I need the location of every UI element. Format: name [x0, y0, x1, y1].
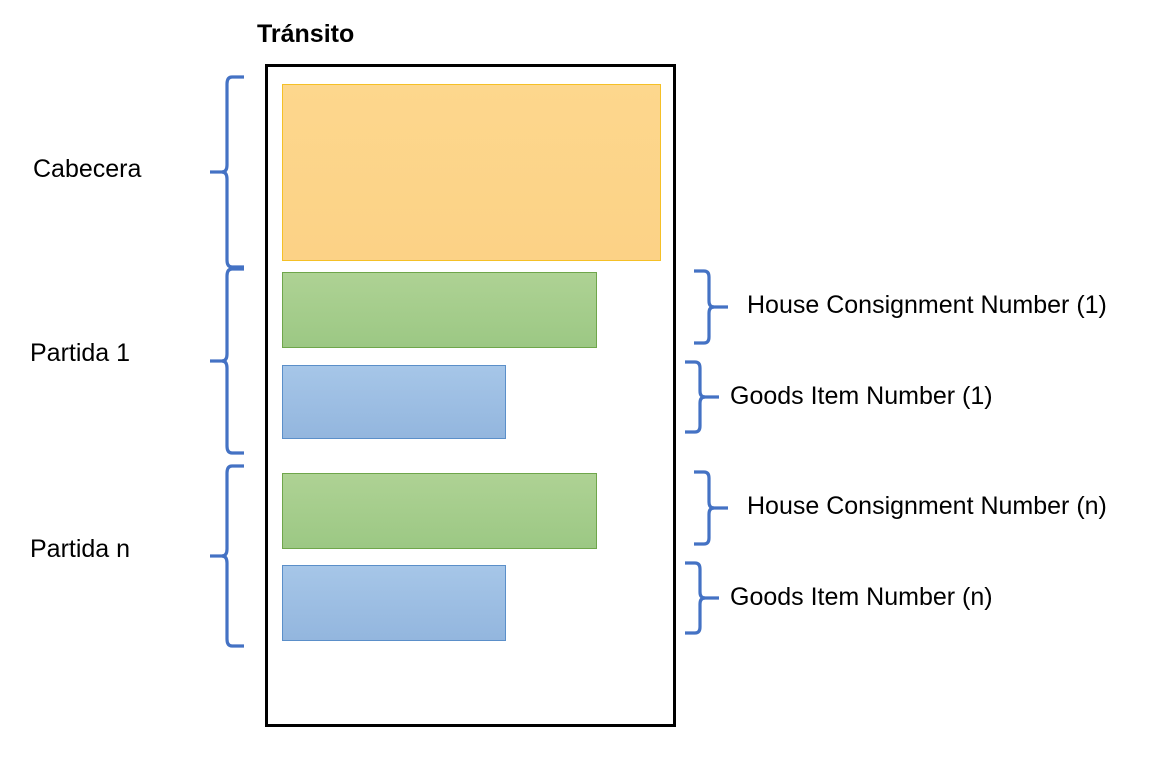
header-block — [282, 84, 661, 261]
label-goods-item-number-1: Goods Item Number (1) — [730, 384, 993, 409]
label-partida-n: Partida n — [30, 537, 130, 562]
bracket-house-consignment-1-icon — [694, 268, 728, 350]
page-title: Tránsito — [257, 20, 354, 49]
label-partida-1: Partida 1 — [30, 341, 130, 366]
label-house-consignment-number-1: House Consignment Number (1) — [747, 293, 1107, 318]
bracket-goods-item-1-icon — [685, 359, 719, 439]
bracket-house-consignment-n-icon — [694, 469, 728, 551]
house-consignment-block-n — [282, 473, 597, 549]
label-cabecera: Cabecera — [33, 157, 141, 182]
bracket-partida-n-icon — [210, 463, 244, 649]
goods-item-block-n — [282, 565, 506, 641]
diagram-canvas: Tránsito Cabecera Partida 1 Parti — [0, 0, 1167, 770]
label-goods-item-number-n: Goods Item Number (n) — [730, 585, 993, 610]
goods-item-block-1 — [282, 365, 506, 439]
house-consignment-block-1 — [282, 272, 597, 348]
bracket-goods-item-n-icon — [685, 560, 719, 640]
label-house-consignment-number-n: House Consignment Number (n) — [747, 494, 1107, 519]
bracket-cabecera-icon — [210, 74, 244, 270]
bracket-partida-1-icon — [210, 266, 244, 456]
